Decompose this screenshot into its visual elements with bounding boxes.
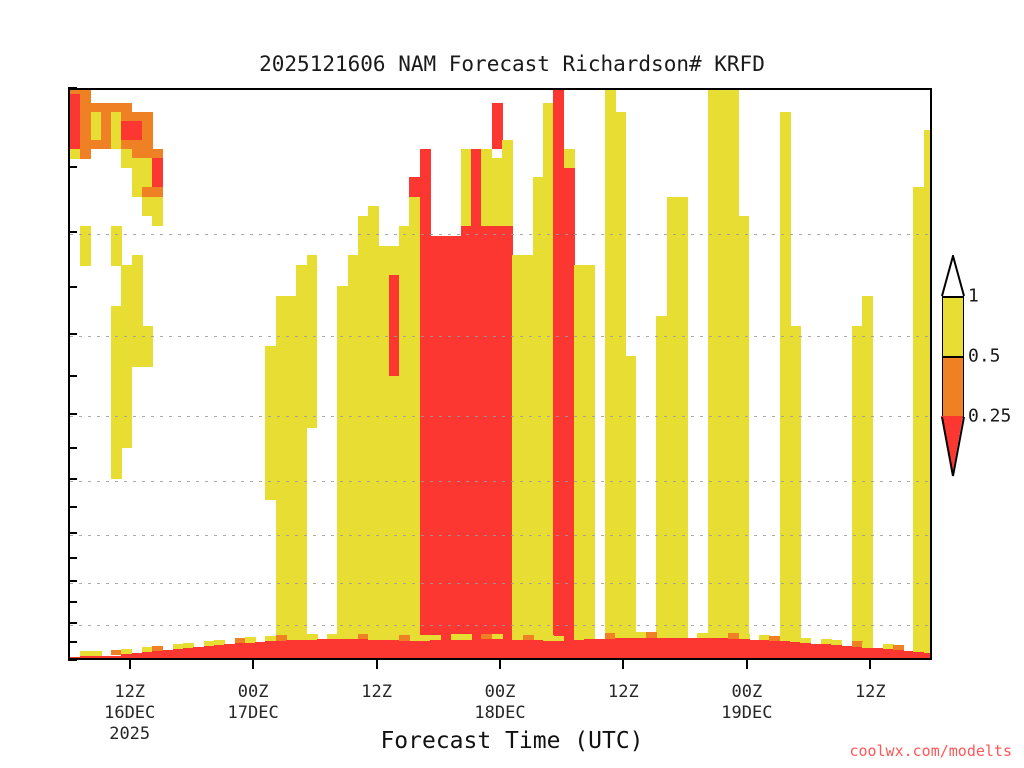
heatmap-cell: [420, 561, 513, 572]
heatmap-cell: [111, 336, 153, 347]
heatmap-cell: [913, 634, 932, 645]
heatmap-cell: [420, 572, 513, 583]
heatmap-cell: [913, 499, 932, 510]
colorbar-segment-yellow: [942, 296, 964, 356]
heatmap-cell: [337, 489, 420, 500]
heatmap-cell: [512, 530, 554, 541]
heatmap-cell: [420, 448, 513, 459]
heatmap-cell: [553, 623, 574, 634]
heatmap-cell: [780, 551, 801, 562]
heatmap-cell: [780, 386, 801, 397]
y-axis-tick-mark: [68, 447, 77, 449]
boundary-layer-fringe: [893, 645, 904, 650]
boundary-layer-fringe: [739, 634, 750, 639]
heatmap-cell: [780, 286, 791, 297]
heatmap-cell: [780, 265, 791, 276]
heatmap-cell: [111, 407, 132, 418]
heatmap-cell: [337, 530, 420, 541]
heatmap-cell: [913, 397, 932, 408]
heatmap-cell: [780, 520, 801, 531]
heatmap-cell: [296, 286, 317, 297]
heatmap-cell: [389, 275, 400, 286]
colorbar-top-arrow-outline: [941, 255, 965, 297]
heatmap-cell: [574, 407, 595, 418]
heatmap-cell: [265, 417, 317, 428]
heatmap-cell: [708, 530, 750, 541]
heatmap-cell: [708, 356, 750, 367]
heatmap-cell: [553, 468, 574, 479]
heatmap-cell: [399, 346, 420, 357]
heatmap-cell: [265, 376, 317, 387]
heatmap-cell: [780, 448, 801, 459]
heatmap-cell: [708, 265, 750, 276]
heatmap-cell: [656, 356, 687, 367]
heatmap-cell: [852, 458, 873, 469]
colorbar-label: 0.25: [968, 406, 1011, 427]
heatmap-cell: [265, 397, 317, 408]
heatmap-cell: [337, 356, 389, 367]
heatmap-cell: [265, 478, 307, 489]
heatmap-cell: [80, 226, 91, 237]
heatmap-cell: [913, 582, 932, 593]
heatmap-cell: [913, 265, 932, 276]
heatmap-cell: [708, 376, 750, 387]
heatmap-cell: [553, 530, 574, 541]
heatmap-cell: [512, 286, 554, 297]
heatmap-cell: [605, 417, 636, 428]
heatmap-cell: [656, 448, 687, 459]
heatmap-cell: [512, 448, 554, 459]
y-axis-tick-mark: [68, 413, 77, 415]
heatmap-cell: [913, 468, 932, 479]
heatmap-cell: [265, 468, 307, 479]
heatmap-cell: [708, 407, 750, 418]
heatmap-cell: [276, 603, 307, 614]
colorbar-label: 1: [968, 286, 979, 307]
heatmap-cell: [337, 603, 420, 614]
heatmap-cell: [656, 437, 687, 448]
heatmap-cell: [780, 187, 791, 198]
heatmap-cell: [605, 366, 636, 377]
heatmap-cell: [780, 572, 801, 583]
heatmap-cell: [265, 356, 317, 367]
heatmap-cell: [605, 530, 636, 541]
heatmap-cell: [708, 613, 750, 624]
heatmap-cell: [780, 592, 801, 603]
heatmap-cell: [276, 572, 307, 583]
heatmap-cell: [111, 346, 153, 357]
heatmap-cell: [337, 572, 420, 583]
heatmap-cell: [111, 427, 132, 438]
heatmap-cell: [780, 336, 801, 347]
heatmap-cell: [852, 509, 873, 520]
heatmap-cell: [512, 561, 554, 572]
heatmap-cell: [913, 366, 932, 377]
heatmap-cell: [553, 572, 574, 583]
heatmap-cell: [512, 613, 554, 624]
heatmap-cell: [70, 149, 81, 159]
heatmap-cell: [574, 265, 595, 276]
heatmap-cell: [574, 366, 595, 377]
heatmap-cell: [852, 582, 873, 593]
heatmap-cell: [512, 366, 554, 377]
heatmap-cell: [574, 603, 595, 614]
heatmap-cell: [656, 407, 687, 418]
heatmap-cell: [132, 187, 143, 198]
heatmap-cell: [111, 226, 122, 237]
heatmap-cell: [913, 376, 932, 387]
heatmap-cell: [913, 286, 932, 297]
heatmap-cell: [420, 530, 513, 541]
heatmap-cell: [337, 448, 420, 459]
heatmap-cell: [389, 356, 400, 367]
heatmap-cell: [656, 520, 687, 531]
heatmap-cell: [708, 286, 750, 297]
heatmap-cell: [656, 376, 687, 387]
heatmap-cell: [265, 407, 317, 418]
y-axis-tick-mark: [68, 659, 77, 661]
heatmap-cell: [605, 356, 636, 367]
heatmap-cell: [708, 386, 750, 397]
heatmap-cell: [512, 592, 554, 603]
heatmap-cell: [111, 458, 122, 469]
heatmap-cell: [265, 366, 317, 377]
heatmap-cell: [852, 551, 873, 562]
heatmap-cell: [708, 603, 750, 614]
heatmap-cell: [780, 366, 801, 377]
heatmap-cell: [913, 520, 932, 531]
heatmap-cell: [656, 541, 687, 552]
heatmap-cell: [574, 468, 595, 479]
heatmap-cell: [553, 346, 574, 357]
heatmap-cell: [913, 448, 932, 459]
heatmap-cell: [605, 226, 626, 237]
heatmap-cell: [512, 417, 554, 428]
heatmap-cell: [605, 407, 636, 418]
heatmap-cell: [276, 613, 307, 624]
heatmap-cell: [852, 397, 873, 408]
heatmap-cell: [420, 407, 513, 418]
heatmap-cell: [656, 458, 687, 469]
heatmap-cell: [574, 623, 595, 634]
heatmap-cell: [337, 551, 420, 562]
heatmap-cell: [913, 551, 932, 562]
heatmap-cell: [420, 592, 513, 603]
heatmap-cell: [420, 346, 513, 357]
heatmap-cell: [512, 582, 554, 593]
heatmap-cell: [121, 265, 142, 276]
boundary-layer-fringe: [800, 638, 811, 643]
heatmap-cell: [512, 265, 554, 276]
heatmap-cell: [574, 275, 595, 286]
heatmap-cell: [605, 520, 636, 531]
heatmap-cell: [512, 458, 554, 469]
heatmap-cell: [780, 478, 801, 489]
heatmap-cell: [512, 275, 554, 286]
x-axis-tick-label: 00Z17DEC: [228, 682, 279, 724]
heatmap-cell: [780, 613, 801, 624]
heatmap-cell: [399, 275, 420, 286]
heatmap-cell: [420, 499, 513, 510]
heatmap-cell: [420, 603, 513, 614]
y-axis-tick-mark: [68, 231, 77, 233]
y-axis-tick-mark: [68, 601, 77, 603]
heatmap-cell: [420, 468, 513, 479]
heatmap-cell: [605, 336, 626, 347]
heatmap-cell: [656, 572, 687, 583]
heatmap-cell: [276, 541, 307, 552]
heatmap-cell: [111, 417, 132, 428]
heatmap-cell: [265, 448, 307, 459]
heatmap-cell: [276, 499, 307, 510]
x-axis-tick-mark: [376, 660, 378, 669]
heatmap-cell: [553, 592, 574, 603]
heatmap-cell: [512, 499, 554, 510]
heatmap-cell: [913, 603, 932, 614]
x-axis-tick-mark: [869, 660, 871, 669]
colorbar-segment-orange: [942, 356, 964, 416]
heatmap-cell: [276, 582, 307, 593]
heatmap-cell: [913, 346, 932, 357]
heatmap-cell: [574, 509, 595, 520]
heatmap-cell: [492, 140, 503, 150]
heatmap-cell: [913, 427, 932, 438]
heatmap-cell: [605, 541, 636, 552]
heatmap-cell: [553, 397, 574, 408]
heatmap-cell: [276, 551, 307, 562]
boundary-layer-fringe: [523, 635, 534, 640]
heatmap-cell: [852, 489, 873, 500]
heatmap-cell: [337, 386, 420, 397]
heatmap-cell: [553, 187, 574, 198]
heatmap-cell: [574, 551, 595, 562]
heatmap-cell: [512, 336, 554, 347]
heatmap-cell: [656, 427, 687, 438]
heatmap-cell: [553, 286, 574, 297]
heatmap-cell: [553, 265, 574, 276]
heatmap-cell: [80, 149, 91, 159]
heatmap-cell: [780, 316, 791, 327]
heatmap-cell: [512, 509, 554, 520]
heatmap-cell: [852, 437, 873, 448]
boundary-layer-fringe: [769, 636, 780, 641]
heatmap-cell: [574, 561, 595, 572]
heatmap-cell: [862, 316, 873, 327]
heatmap-cell: [420, 397, 513, 408]
heatmap-cell: [420, 520, 513, 531]
heatmap-cell: [420, 417, 513, 428]
heatmap-cell: [420, 623, 513, 634]
heatmap-cell: [574, 489, 595, 500]
heatmap-cell: [780, 417, 801, 428]
heatmap-cell: [605, 386, 636, 397]
heatmap-cell: [481, 187, 512, 198]
heatmap-cell: [574, 613, 595, 624]
heatmap-cell: [780, 275, 791, 286]
heatmap-cell: [574, 572, 595, 583]
heatmap-cell: [656, 530, 687, 541]
heatmap-cell: [80, 255, 91, 266]
heatmap-cell: [574, 286, 595, 297]
heatmap-cell: [512, 520, 554, 531]
heatmap-cell: [656, 386, 687, 397]
heatmap-cell: [708, 437, 750, 448]
heatmap-cell: [605, 397, 636, 408]
heatmap-cell: [337, 316, 389, 327]
heatmap-cells: [70, 90, 930, 658]
watermark: coolwx.com/modelts: [849, 742, 1012, 760]
y-axis-tick-mark: [68, 622, 77, 624]
heatmap-cell: [852, 592, 873, 603]
heatmap-cell: [913, 275, 932, 286]
chart-page: 2025121606 NAM Forecast Richardson# KRFD…: [0, 0, 1024, 768]
heatmap-cell: [574, 427, 595, 438]
heatmap-cell: [780, 561, 801, 572]
heatmap-cell: [780, 437, 801, 448]
heatmap-cell: [553, 427, 574, 438]
heatmap-cell: [852, 478, 873, 489]
heatmap-cell: [389, 336, 400, 347]
heatmap-cell: [420, 551, 513, 562]
heatmap-cell: [348, 275, 390, 286]
heatmap-cell: [553, 366, 574, 377]
heatmap-cell: [553, 613, 574, 624]
heatmap-cell: [512, 346, 554, 357]
heatmap-cell: [399, 356, 420, 367]
heatmap-cell: [574, 582, 595, 593]
heatmap-cell: [337, 407, 420, 418]
heatmap-cell: [780, 226, 791, 237]
heatmap-cell: [574, 458, 595, 469]
heatmap-cell: [265, 458, 307, 469]
heatmap-cell: [276, 520, 307, 531]
x-axis-tick-label: 12Z: [361, 682, 392, 703]
heatmap-cell: [337, 346, 389, 357]
heatmap-cell: [553, 499, 574, 510]
heatmap-cell: [276, 336, 318, 347]
heatmap-cell: [389, 316, 400, 327]
x-axis-tick-mark: [746, 660, 748, 669]
x-axis-tick-label: 12Z: [855, 682, 886, 703]
colorbar-edge-top: [942, 296, 964, 298]
heatmap-cell: [399, 286, 420, 297]
heatmap-cell: [111, 316, 142, 327]
heatmap-cell: [708, 551, 750, 562]
x-axis-tick-label: 00Z18DEC: [474, 682, 525, 724]
heatmap-cell: [533, 226, 554, 237]
heatmap-cell: [265, 437, 307, 448]
heatmap-cell: [708, 226, 750, 237]
heatmap-cell: [780, 458, 801, 469]
heatmap-cell: [409, 187, 430, 198]
heatmap-cell: [574, 397, 595, 408]
heatmap-cell: [780, 541, 801, 552]
heatmap-cell: [852, 623, 873, 634]
heatmap-cell: [708, 336, 750, 347]
heatmap-cell: [574, 448, 595, 459]
heatmap-cell: [656, 417, 687, 428]
heatmap-cell: [121, 275, 142, 286]
heatmap-cell: [913, 572, 932, 583]
heatmap-cell: [708, 572, 750, 583]
heatmap-cell: [574, 336, 595, 347]
colorbar-bottom-arrow-outline: [941, 416, 965, 478]
heatmap-cell: [605, 489, 636, 500]
heatmap-cell: [553, 386, 574, 397]
heatmap-cell: [420, 478, 513, 489]
heatmap-cell: [337, 427, 420, 438]
heatmap-cell: [780, 499, 801, 510]
heatmap-cell: [337, 286, 389, 297]
heatmap-cell: [420, 286, 513, 297]
y-axis-tick-mark: [68, 641, 77, 643]
heatmap-cell: [553, 561, 574, 572]
x-axis-tick-label: 00Z19DEC: [721, 682, 772, 724]
heatmap-cell: [852, 386, 873, 397]
heatmap-cell: [512, 551, 554, 562]
y-axis-tick-mark: [68, 333, 77, 335]
heatmap-cell: [111, 356, 153, 367]
heatmap-cell: [461, 226, 513, 237]
heatmap-cell: [553, 520, 574, 531]
heatmap-cell: [111, 386, 132, 397]
heatmap-cell: [656, 397, 687, 408]
heatmap-cell: [913, 226, 932, 237]
heatmap-cell: [337, 613, 420, 624]
heatmap-cell: [708, 499, 750, 510]
heatmap-cell: [913, 458, 932, 469]
heatmap-cell: [337, 437, 420, 448]
heatmap-cell: [121, 286, 142, 297]
heatmap-cell: [913, 623, 932, 634]
heatmap-cell: [512, 397, 554, 408]
boundary-layer-fringe: [862, 642, 873, 647]
heatmap-cell: [667, 286, 688, 297]
heatmap-cell: [605, 187, 626, 198]
heatmap-cell: [553, 603, 574, 614]
heatmap-cell: [605, 603, 636, 614]
heatmap-cell: [605, 499, 636, 510]
heatmap-cell: [913, 437, 932, 448]
heatmap-cell: [471, 187, 482, 198]
heatmap-cell: [780, 603, 801, 614]
heatmap-cell: [337, 582, 420, 593]
heatmap-cell: [656, 499, 687, 510]
heatmap-cell: [512, 407, 554, 418]
heatmap-cell: [852, 613, 873, 624]
heatmap-cell: [420, 376, 513, 387]
heatmap-cell: [852, 561, 873, 572]
heatmap-cell: [605, 265, 626, 276]
heatmap-cell: [553, 437, 574, 448]
heatmap-cell: [337, 541, 420, 552]
heatmap-cell: [852, 336, 873, 347]
y-axis-tick-mark: [68, 375, 77, 377]
heatmap-cell: [708, 187, 739, 198]
heatmap-cell: [574, 356, 595, 367]
heatmap-cell: [420, 356, 513, 367]
heatmap-cell: [780, 376, 801, 387]
heatmap-cell: [574, 437, 595, 448]
heatmap-cell: [553, 316, 574, 327]
heatmap-cell: [852, 407, 873, 418]
heatmap-cell: [512, 427, 554, 438]
heatmap-cell: [337, 478, 420, 489]
x-axis-tick-mark: [252, 660, 254, 669]
heatmap-cell: [780, 397, 801, 408]
heatmap-cell: [512, 541, 554, 552]
heatmap-cell: [553, 336, 574, 347]
